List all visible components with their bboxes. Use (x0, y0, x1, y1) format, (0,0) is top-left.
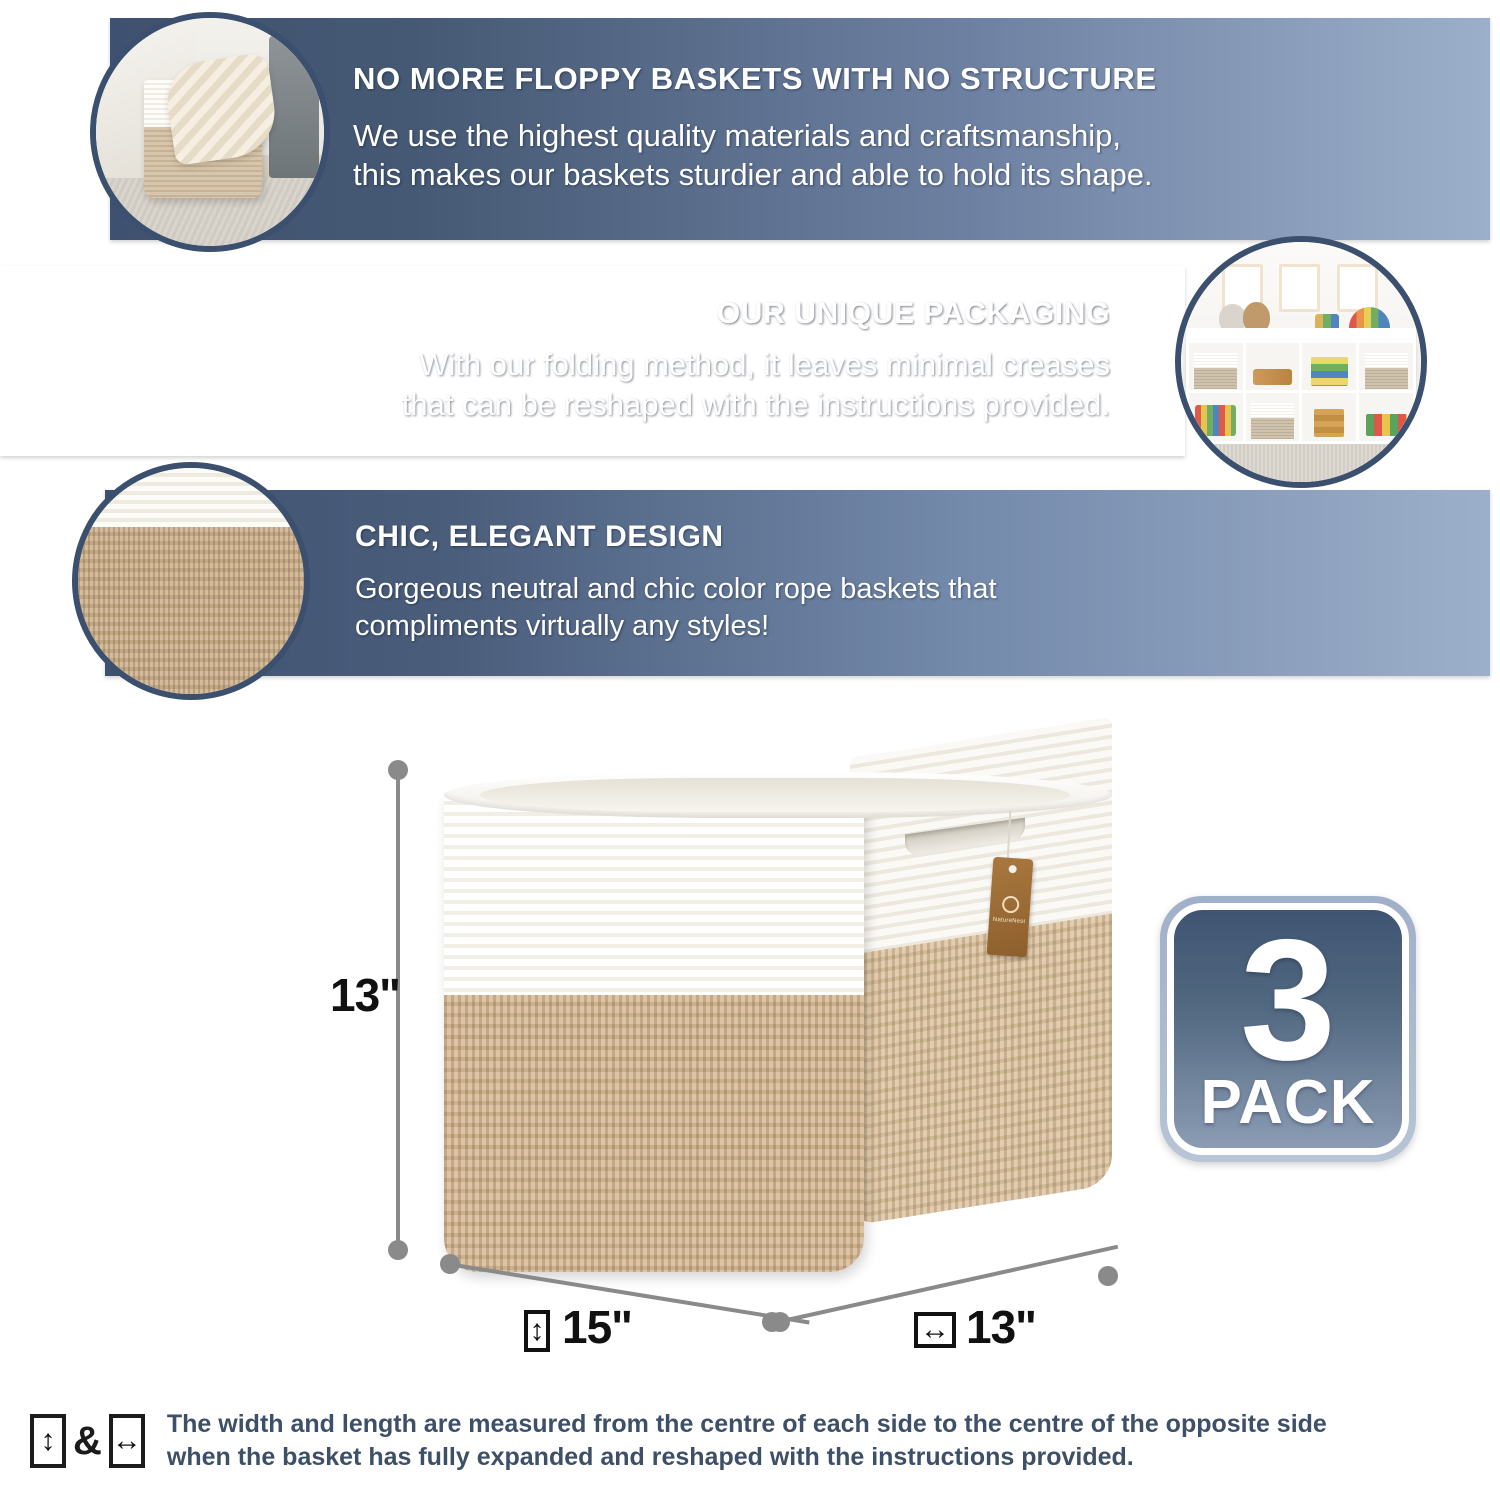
cotton-rope-storage-basket-image: NatureNest (420, 752, 1120, 1292)
tag-brand-text: NatureNest (989, 917, 1029, 926)
banner-body-line-1: We use the highest quality materials and… (353, 116, 1153, 156)
banner-body-line-1: With our folding method, it leaves minim… (402, 345, 1110, 385)
horizontal-arrow-icon: ↔ (109, 1414, 145, 1468)
pack-count: 3 (1174, 914, 1402, 1086)
banner-body-line-2: that can be reshaped with the instructio… (402, 385, 1110, 425)
horizontal-arrow-icon: ↔ (914, 1312, 956, 1348)
ampersand-separator: & (73, 1421, 102, 1461)
banner-heading: CHIC, ELEGANT DESIGN (355, 521, 724, 553)
width-dimension-label: 13" (966, 1300, 1036, 1354)
measurement-note-line-2: when the basket has fully expanded and r… (167, 1441, 1327, 1474)
basket-interior (480, 778, 1070, 812)
feature-banner-chic-elegant-design: CHIC, ELEGANT DESIGN Gorgeous neutral an… (105, 490, 1490, 676)
banner-body-line-2: this makes our baskets sturdier and able… (353, 155, 1153, 195)
banner-body-line-2: compliments virtually any styles! (355, 608, 997, 645)
measurement-note: ↕ & ↔ The width and length are measured … (30, 1408, 1470, 1482)
brand-hang-tag: NatureNest (987, 857, 1034, 958)
height-dimension-dot-bottom (388, 1240, 408, 1260)
measurement-icons: ↕ & ↔ (30, 1414, 145, 1468)
vertical-arrow-icon: ↕ (524, 1310, 550, 1352)
vertical-arrow-icon: ↕ (30, 1414, 66, 1468)
basket-front-panel (444, 794, 864, 1272)
banner-heading: NO MORE FLOPPY BASKETS WITH NO STRUCTURE (353, 63, 1157, 96)
measurement-note-text: The width and length are measured from t… (167, 1408, 1327, 1473)
brand-logo-icon (1001, 895, 1019, 913)
banner-body-line-1: Gorgeous neutral and chic color rope bas… (355, 571, 997, 608)
pack-label: PACK (1174, 1072, 1402, 1134)
depth-dimension-label: 15" (562, 1300, 632, 1354)
three-pack-badge: 3 PACK (1160, 896, 1416, 1162)
width-dimension-dot-outer (1098, 1266, 1118, 1286)
nursery-cube-shelf-photo (1175, 236, 1427, 488)
basket-with-knit-throw-photo (90, 12, 330, 252)
rope-texture-closeup-photo (72, 462, 310, 700)
banner-heading: OUR UNIQUE PACKAGING (717, 298, 1110, 330)
measurement-note-line-1: The width and length are measured from t… (167, 1408, 1327, 1441)
product-infographic: NO MORE FLOPPY BASKETS WITH NO STRUCTURE… (0, 0, 1500, 1486)
height-dimension-label: 13" (330, 968, 400, 1022)
tag-hole (1008, 865, 1017, 874)
height-dimension-dot-top (388, 760, 408, 780)
depth-dimension-dot-outer (440, 1254, 460, 1274)
width-dimension-dot-corner (770, 1312, 790, 1332)
feature-banner-unique-packaging: OUR UNIQUE PACKAGING With our folding me… (0, 266, 1185, 456)
